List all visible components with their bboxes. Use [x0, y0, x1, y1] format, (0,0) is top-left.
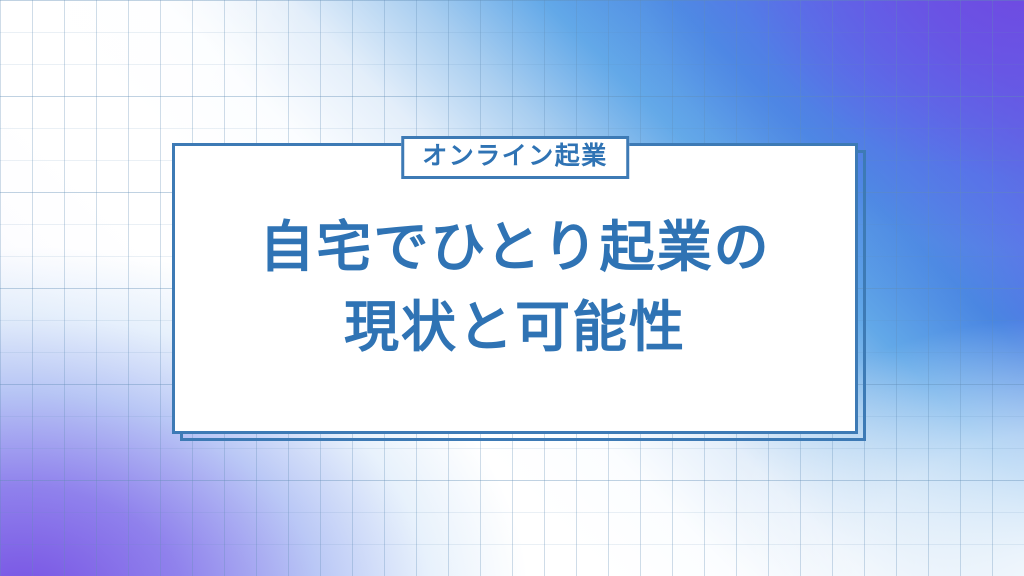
title-card-group: オンライン起業 自宅でひとり起業の 現状と可能性 [172, 143, 866, 441]
slide-title-line-2: 現状と可能性 [201, 288, 829, 368]
slide-title-line-1: 自宅でひとり起業の [201, 208, 829, 288]
category-badge-label: オンライン起業 [422, 141, 608, 170]
slide-canvas: オンライン起業 自宅でひとり起業の 現状と可能性 [0, 0, 1024, 576]
slide-title: 自宅でひとり起業の 現状と可能性 [175, 208, 855, 368]
title-card: オンライン起業 自宅でひとり起業の 現状と可能性 [172, 143, 858, 434]
category-badge: オンライン起業 [401, 136, 629, 179]
